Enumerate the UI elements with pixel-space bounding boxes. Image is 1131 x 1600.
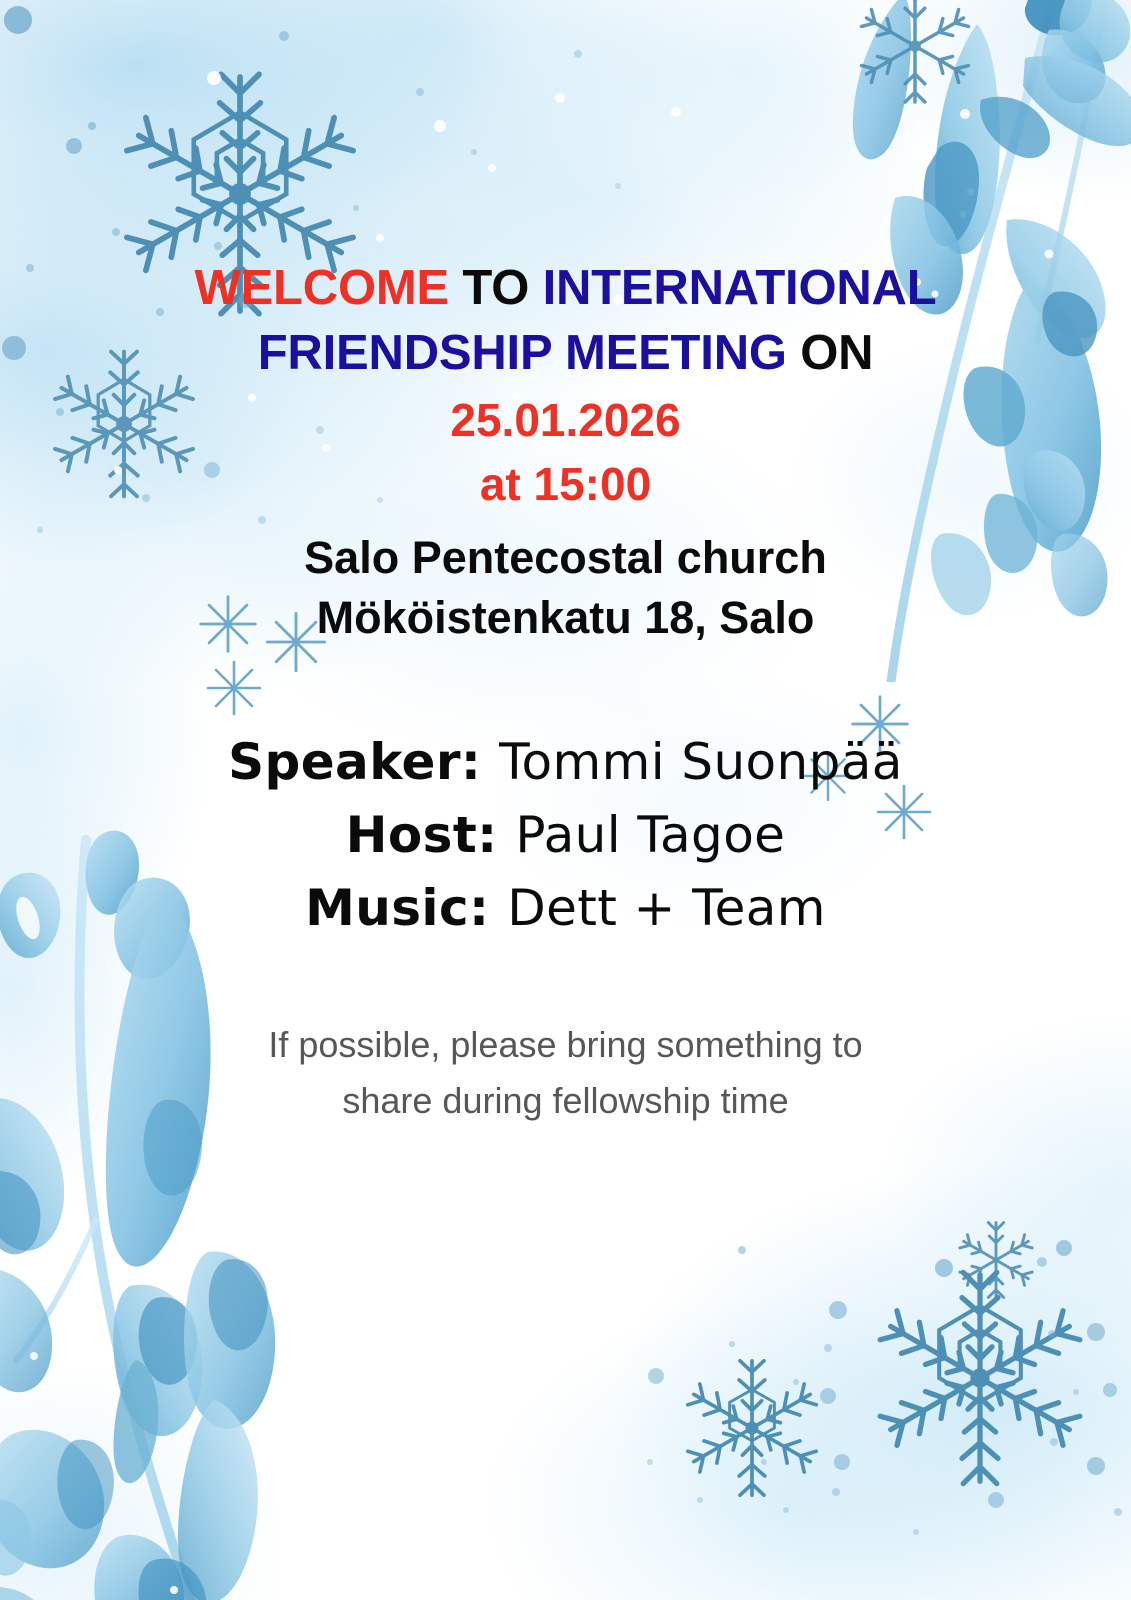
- snowflake-large-bottom-right: [860, 1258, 1100, 1498]
- people-row-speaker: Speaker: Tommi Suonpää: [0, 726, 1131, 799]
- note-line-1: If possible, please bring something to: [0, 1017, 1131, 1073]
- snowflake-small-bottom-center: [948, 1212, 1044, 1308]
- role-label-speaker: Speaker: [228, 733, 461, 791]
- role-separator-music: :: [469, 879, 507, 937]
- headline-block: WELCOME TO INTERNATIONAL FRIENDSHIP MEET…: [0, 256, 1131, 385]
- people-row-host: Host: Paul Tagoe: [0, 799, 1131, 872]
- headline-welcome: WELCOME: [195, 261, 449, 315]
- fellowship-note: If possible, please bring something to s…: [0, 1017, 1131, 1129]
- snowflake-medium-bottom-right: [672, 1348, 832, 1508]
- headline-line-2: FRIENDSHIP MEETING ON: [60, 321, 1071, 386]
- person-name-speaker: Tommi Suonpää: [499, 733, 903, 791]
- headline-line-1: WELCOME TO INTERNATIONAL: [60, 256, 1071, 321]
- person-name-host: Paul Tagoe: [515, 806, 785, 864]
- poster-canvas: WELCOME TO INTERNATIONAL FRIENDSHIP MEET…: [0, 0, 1131, 1600]
- role-label-music: Music: [305, 879, 469, 937]
- person-name-music: Dett + Team: [507, 879, 826, 937]
- headline-to: TO: [449, 261, 543, 315]
- note-line-2: share during fellowship time: [0, 1073, 1131, 1129]
- venue-address: Mököistenkatu 18, Salo: [0, 588, 1131, 648]
- role-separator-host: :: [477, 806, 515, 864]
- event-date: 25.01.2026: [0, 389, 1131, 452]
- headline-friendship-meeting: FRIENDSHIP MEETING: [258, 326, 787, 380]
- people-row-music: Music: Dett + Team: [0, 872, 1131, 945]
- venue-block: Salo Pentecostal church Mököistenkatu 18…: [0, 528, 1131, 648]
- headline-on: ON: [787, 326, 874, 380]
- headline-international: INTERNATIONAL: [543, 261, 937, 315]
- datetime-block: 25.01.2026 at 15:00: [0, 389, 1131, 516]
- poster-content: WELCOME TO INTERNATIONAL FRIENDSHIP MEET…: [0, 0, 1131, 1129]
- event-time: at 15:00: [0, 453, 1131, 516]
- people-block: Speaker: Tommi Suonpää Host: Paul Tagoe …: [0, 726, 1131, 945]
- role-label-host: Host: [346, 806, 477, 864]
- role-separator-speaker: :: [461, 733, 499, 791]
- venue-name: Salo Pentecostal church: [0, 528, 1131, 588]
